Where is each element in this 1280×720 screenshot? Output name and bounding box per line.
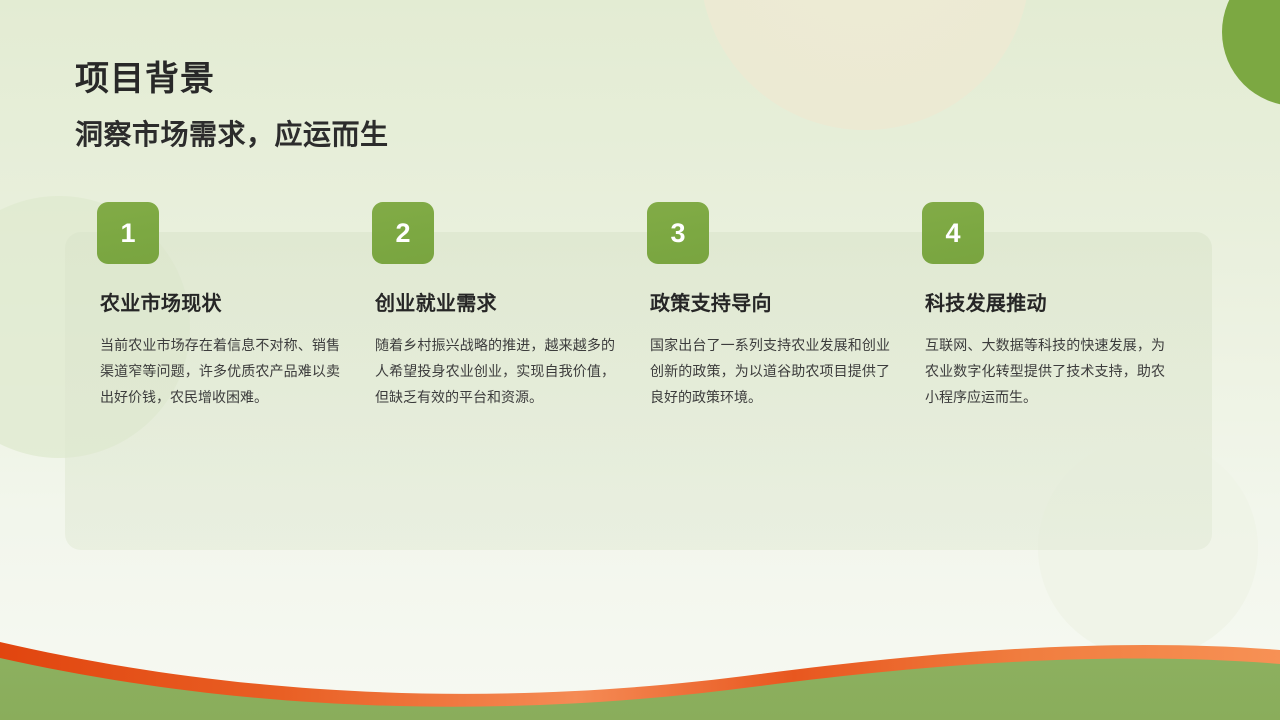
green-corner-circle-decoration	[1222, 0, 1280, 106]
card-number-badge: 4	[922, 202, 984, 264]
card-body-text: 随着乡村振兴战略的推进，越来越多的人希望投身农业创业，实现自我价值，但缺乏有效的…	[375, 332, 615, 410]
card-number-badge: 2	[372, 202, 434, 264]
bottom-wave-decoration	[0, 590, 1280, 720]
slide-header: 项目背景 洞察市场需求，应运而生	[75, 56, 389, 154]
page-subtitle: 洞察市场需求，应运而生	[75, 116, 389, 154]
card-item[interactable]: 4 科技发展推动 互联网、大数据等科技的快速发展，为农业数字化转型提供了技术支持…	[922, 202, 1170, 410]
card-number-badge: 3	[647, 202, 709, 264]
slide-canvas: 项目背景 洞察市场需求，应运而生 1 农业市场现状 当前农业市场存在着信息不对称…	[0, 0, 1280, 720]
card-item[interactable]: 2 创业就业需求 随着乡村振兴战略的推进，越来越多的人希望投身农业创业，实现自我…	[372, 202, 620, 410]
card-item[interactable]: 3 政策支持导向 国家出台了一系列支持农业发展和创业创新的政策，为以道谷助农项目…	[647, 202, 895, 410]
card-heading: 科技发展推动	[925, 290, 1170, 318]
page-title: 项目背景	[75, 56, 389, 102]
card-body-text: 当前农业市场存在着信息不对称、销售渠道窄等问题，许多优质农产品难以卖出好价钱，农…	[100, 332, 340, 410]
card-heading: 政策支持导向	[650, 290, 895, 318]
card-heading: 创业就业需求	[375, 290, 620, 318]
card-body-text: 互联网、大数据等科技的快速发展，为农业数字化转型提供了技术支持，助农小程序应运而…	[925, 332, 1165, 410]
cream-circle-decoration	[700, 0, 1030, 130]
card-body-text: 国家出台了一系列支持农业发展和创业创新的政策，为以道谷助农项目提供了良好的政策环…	[650, 332, 890, 410]
card-number-badge: 1	[97, 202, 159, 264]
cards-container: 1 农业市场现状 当前农业市场存在着信息不对称、销售渠道窄等问题，许多优质农产品…	[97, 202, 1217, 532]
card-item[interactable]: 1 农业市场现状 当前农业市场存在着信息不对称、销售渠道窄等问题，许多优质农产品…	[97, 202, 345, 410]
card-heading: 农业市场现状	[100, 290, 345, 318]
